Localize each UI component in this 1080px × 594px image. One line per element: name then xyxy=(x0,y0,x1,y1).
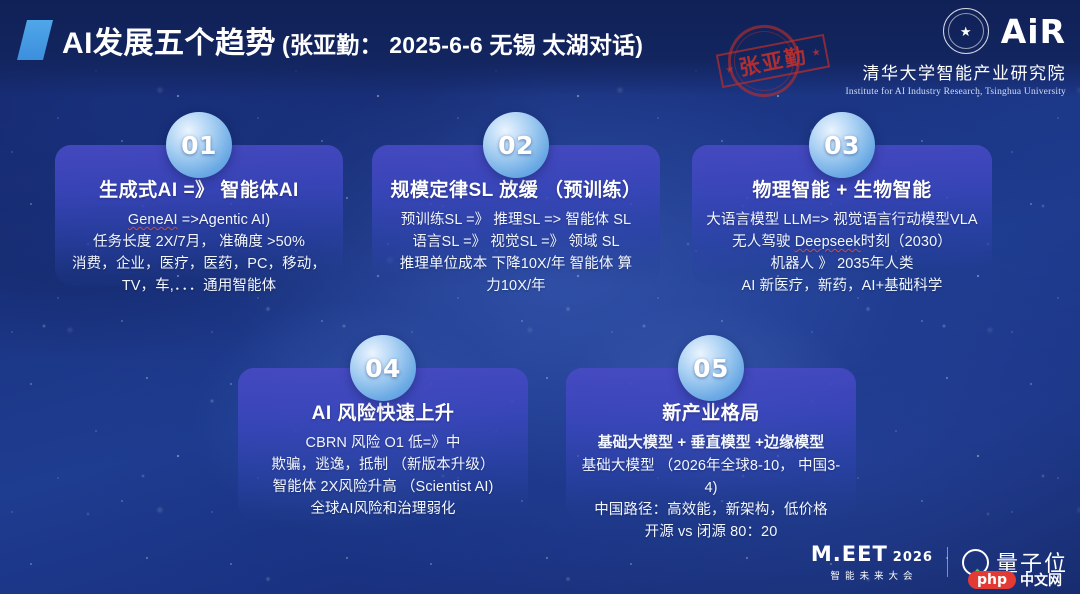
card-badge-04: 04 xyxy=(350,335,416,401)
misspelled-word: Deepseek xyxy=(795,234,861,250)
card-line: 无人驾驶 Deepseek时刻（2030） xyxy=(706,231,978,253)
card-badge-number: 02 xyxy=(498,131,534,160)
card-line: 消费，企业，医疗，医药，PC，移动， xyxy=(69,253,329,275)
card-line: 大语言模型 LLM=> 视觉语言行动模型VLA xyxy=(706,209,978,231)
card-title: 规模定律SL 放缓 （预训练） xyxy=(386,175,646,202)
card-line: 中国路径：高效能，新架构，低价格 xyxy=(580,499,842,521)
accent-bar-icon xyxy=(17,20,53,60)
slide-header: AI发展五个趋势 (张亚勤： 2025-6-6 无锡 太湖对话) ★ 张亚勤 ★… xyxy=(0,0,1080,96)
card-badge-03: 03 xyxy=(809,112,875,178)
card-line: GeneAI =>Agentic AI) xyxy=(69,209,329,231)
stamp-band: ★ 张亚勤 ★ xyxy=(716,34,830,88)
card-line: CBRN 风险 O1 低=》中 xyxy=(252,432,514,454)
card-line: 语言SL =》 视觉SL =》 领域 SL xyxy=(386,231,646,253)
card-line: 欺骗，逃逸，抵制 （新版本升级） xyxy=(252,454,514,476)
watermark-cn-label: 中文网 xyxy=(1020,570,1062,590)
card-line: 推理单位成本 下降10X/年 智能体 算 xyxy=(386,253,646,275)
card-line: 基础大模型 （2026年全球8-10， 中国3-4) xyxy=(580,455,842,499)
card-line: 机器人 》 2035年人类 xyxy=(706,253,978,275)
site-watermark: php 中文网 xyxy=(968,570,1062,590)
trend-card-04[interactable]: 04 AI 风险快速上升 CBRN 风险 O1 低=》中 欺骗，逃逸，抵制 （新… xyxy=(238,368,528,520)
card-line: TV，车,．．．通用智能体 xyxy=(69,275,329,297)
card-line: 开源 vs 闭源 80：20 xyxy=(580,521,842,543)
card-title: 生成式AI =》 智能体AI xyxy=(69,175,329,202)
title-row: AI发展五个趋势 (张亚勤： 2025-6-6 无锡 太湖对话) xyxy=(22,18,643,62)
meet-logo-top: M.EET 2026 xyxy=(811,542,933,566)
air-institute-en: Institute for AI Industry Research, Tsin… xyxy=(846,87,1066,97)
card-badge-number: 03 xyxy=(824,131,860,160)
card-line: 力10X/年 xyxy=(386,275,646,297)
card-badge-number: 04 xyxy=(365,354,401,383)
meet-subtitle: 智能未来大会 xyxy=(830,568,917,582)
card-title: AI 风险快速上升 xyxy=(252,398,514,425)
trend-card-03[interactable]: 03 物理智能 + 生物智能 大语言模型 LLM=> 视觉语言行动模型VLA 无… xyxy=(692,145,992,285)
card-line: AI 新医疗，新药，AI+基础科学 xyxy=(706,275,978,297)
meet-wordmark: M.EET xyxy=(811,542,888,566)
card-line: 任务长度 2X/7月， 准确度 >50% xyxy=(69,231,329,253)
card-badge-05: 05 xyxy=(678,335,744,401)
card-line-rest: =>Agentic AI) xyxy=(178,212,271,228)
card-badge-number: 01 xyxy=(181,131,217,160)
air-logo-top: ★ AiR xyxy=(943,8,1066,54)
card-badge-02: 02 xyxy=(483,112,549,178)
seal-star-glyph: ★ xyxy=(960,25,972,38)
trend-card-02[interactable]: 02 规模定律SL 放缓 （预训练） 预训练SL =》 推理SL => 智能体 … xyxy=(372,145,660,285)
stamp-inner-ring-icon xyxy=(728,25,799,96)
misspelled-word: GeneAI xyxy=(128,212,178,228)
trend-card-01[interactable]: 01 生成式AI =》 智能体AI GeneAI =>Agentic AI) 任… xyxy=(55,145,343,285)
air-institute-cn: 清华大学智能产业研究院 xyxy=(863,59,1067,84)
tsinghua-seal-icon: ★ xyxy=(943,8,989,54)
card-line: 预训练SL =》 推理SL => 智能体 SL xyxy=(386,209,646,231)
card-title: 物理智能 + 生物智能 xyxy=(706,175,978,202)
card-line: 智能体 2X风险升高 （Scientist AI) xyxy=(252,476,514,498)
card-badge-number: 05 xyxy=(693,354,729,383)
meet-year: 2026 xyxy=(893,550,933,565)
card-line: 基础大模型 + 垂直模型 +边缘模型 xyxy=(580,432,842,455)
air-wordmark: AiR xyxy=(1001,15,1066,48)
stamp-star-left-icon: ★ xyxy=(724,63,735,76)
stamp-outer-ring-icon xyxy=(721,18,806,103)
speaker-stamp: ★ 张亚勤 ★ xyxy=(712,22,834,100)
air-logo: ★ AiR 清华大学智能产业研究院 Institute for AI Indus… xyxy=(846,8,1066,97)
stamp-label: 张亚勤 xyxy=(736,40,809,83)
page-title: AI发展五个趋势 xyxy=(62,18,276,62)
trend-card-05[interactable]: 05 新产业格局 基础大模型 + 垂直模型 +边缘模型 基础大模型 （2026年… xyxy=(566,368,856,520)
slide-canvas: AI发展五个趋势 (张亚勤： 2025-6-6 无锡 太湖对话) ★ 张亚勤 ★… xyxy=(0,0,1080,594)
footer-divider xyxy=(947,547,948,577)
card-title: 新产业格局 xyxy=(580,398,842,425)
watermark-php-badge: php xyxy=(968,571,1016,589)
stamp-star-right-icon: ★ xyxy=(811,46,822,59)
card-line-prefix: 无人驾驶 xyxy=(732,234,795,250)
card-line: 全球AI风险和治理弱化 xyxy=(252,498,514,520)
card-line-rest: 时刻（2030） xyxy=(861,234,952,250)
page-subtitle: (张亚勤： 2025-6-6 无锡 太湖对话) xyxy=(282,26,643,60)
meet-logo: M.EET 2026 智能未来大会 xyxy=(811,542,933,582)
card-badge-01: 01 xyxy=(166,112,232,178)
